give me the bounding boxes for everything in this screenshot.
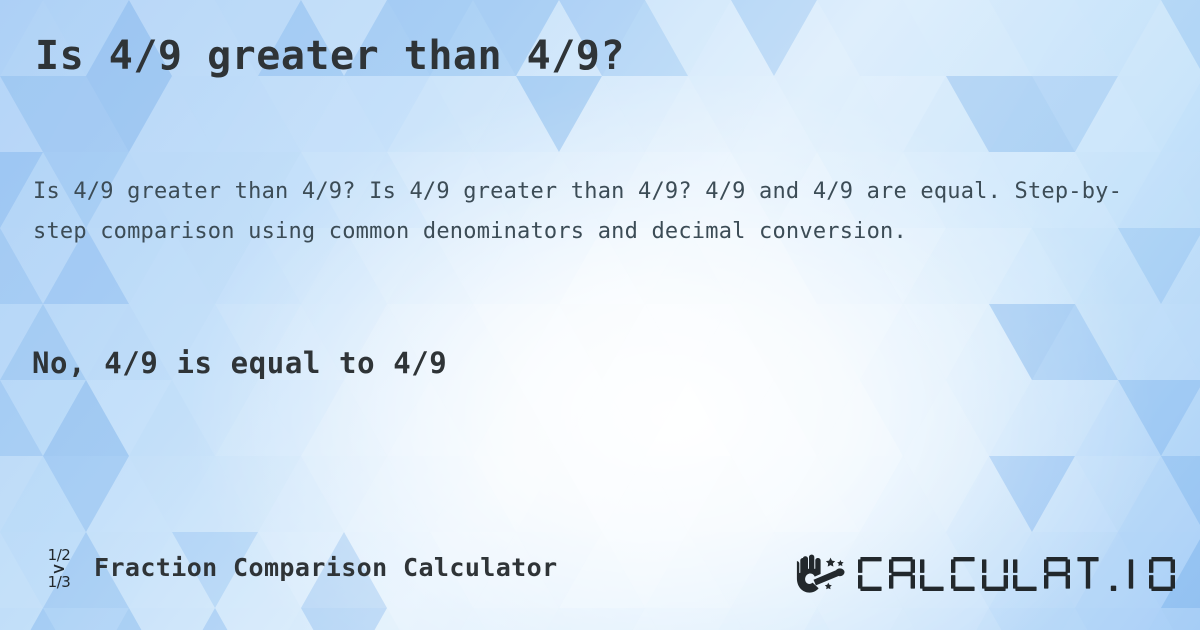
footer: 1/2 > 1/3 Fraction Comparison Calculator [0,540,1200,610]
hand-holding-magic-wand-icon [796,552,852,598]
page-description: Is 4/9 greater than 4/9? Is 4/9 greater … [33,172,1143,252]
fraction-comparison-icon: 1/2 > 1/3 [38,546,80,589]
logo-text-calculatio [856,555,1180,595]
page-title: Is 4/9 greater than 4/9? [35,30,1165,82]
answer-statement: No, 4/9 is equal to 4/9 [32,343,1152,383]
card-content: Is 4/9 greater than 4/9? Is 4/9 greater … [0,0,1200,630]
calculatio-logo[interactable] [796,548,1180,602]
footer-calculator-name: Fraction Comparison Calculator [94,553,558,582]
logo-wordmark [856,552,1180,598]
fraction-icon-bottom: 1/3 [48,575,71,589]
footer-brand: 1/2 > 1/3 Fraction Comparison Calculator [38,546,558,589]
share-card: Is 4/9 greater than 4/9? Is 4/9 greater … [0,0,1200,630]
